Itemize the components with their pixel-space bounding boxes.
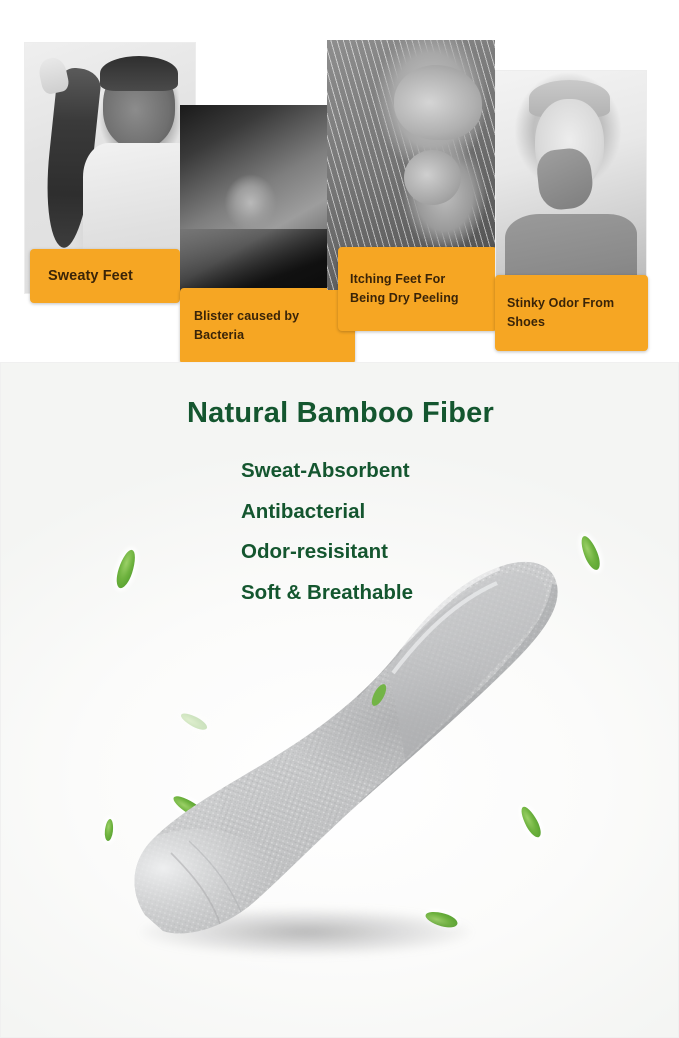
problems-section: Sweaty Feet Blister caused by Bacteria I… bbox=[0, 0, 679, 362]
bamboo-heading: Natural Bamboo Fiber bbox=[1, 397, 679, 430]
hair-shape bbox=[100, 56, 178, 91]
caption-stinky-odor: Stinky Odor From Shoes bbox=[495, 275, 648, 351]
caption-line: Itching Feet For bbox=[350, 270, 497, 289]
benefit-item: Antibacterial bbox=[241, 502, 413, 523]
caption-blister-bacteria: Blister caused by Bacteria bbox=[180, 288, 355, 362]
caption-itching-feet: Itching Feet For Being Dry Peeling bbox=[338, 247, 497, 331]
toe-shape bbox=[394, 65, 481, 140]
caption-line: Sweaty Feet bbox=[48, 265, 180, 287]
toe-shape bbox=[404, 150, 461, 205]
sock-cuff bbox=[387, 572, 546, 759]
caption-line: Being Dry Peeling bbox=[350, 289, 497, 308]
caption-line: Bacteria bbox=[194, 326, 355, 345]
bamboo-fiber-section: Natural Bamboo Fiber Sweat-Absorbent Ant… bbox=[0, 362, 679, 1038]
caption-line: Stinky Odor From bbox=[507, 294, 648, 313]
caption-line: Shoes bbox=[507, 313, 648, 332]
caption-line: Blister caused by bbox=[194, 307, 355, 326]
product-infographic: Sweaty Feet Blister caused by Bacteria I… bbox=[0, 0, 679, 1038]
photo-stinky-odor bbox=[495, 70, 647, 302]
product-image-sock bbox=[101, 523, 581, 1003]
caption-sweaty-feet: Sweaty Feet bbox=[30, 249, 180, 303]
benefit-item: Sweat-Absorbent bbox=[241, 461, 413, 482]
